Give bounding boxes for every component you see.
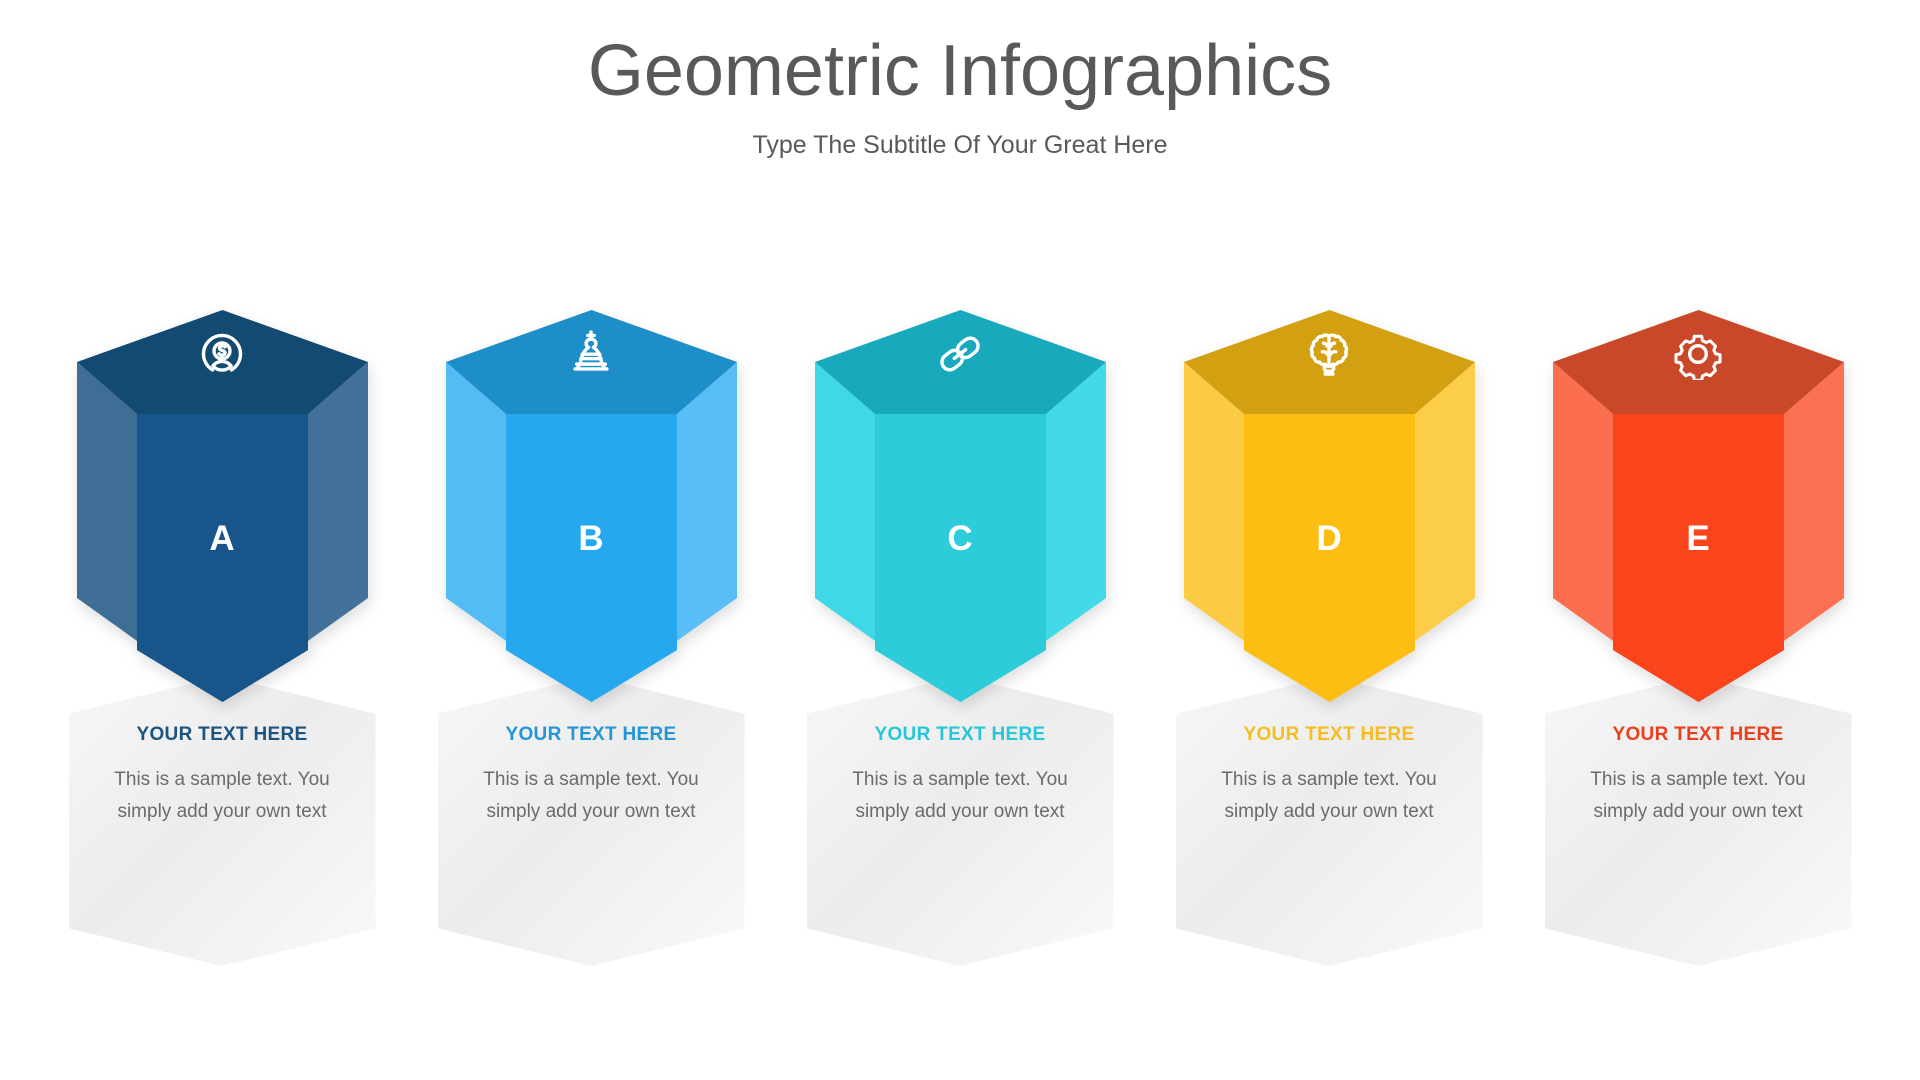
- text-panel: YOUR TEXT HERE This is a sample text. Yo…: [438, 676, 745, 966]
- page-subtitle: Type The Subtitle Of Your Great Here: [0, 113, 1920, 160]
- prism-front-face: [1613, 414, 1784, 702]
- panel-body: This is a sample text. You simply add yo…: [1545, 764, 1852, 828]
- prism-front-face: [506, 414, 677, 702]
- prism-top-face: [446, 310, 737, 414]
- infographic-column-a[interactable]: A YOUR TEXT HERE This is a sample text. …: [69, 310, 376, 970]
- infographic-column-c[interactable]: C YOUR TEXT HERE This is a sample text. …: [807, 310, 1114, 970]
- hex-prism-shape: [1545, 310, 1852, 730]
- text-panel: YOUR TEXT HERE This is a sample text. Yo…: [807, 676, 1114, 966]
- infographic-column-b[interactable]: B YOUR TEXT HERE This is a sample text. …: [438, 310, 745, 970]
- hex-prism[interactable]: [807, 310, 1114, 730]
- hex-prism-shape: [438, 310, 745, 730]
- infographic-slide: Geometric Infographics Type The Subtitle…: [0, 0, 1920, 1080]
- hex-prism[interactable]: [1176, 310, 1483, 730]
- panel-body: This is a sample text. You simply add yo…: [69, 764, 376, 828]
- panel-heading: YOUR TEXT HERE: [69, 724, 376, 746]
- infographic-column-e[interactable]: E YOUR TEXT HERE This is a sample text. …: [1545, 310, 1852, 970]
- infographic-column-d[interactable]: D YOUR TEXT HERE This is a sample text. …: [1176, 310, 1483, 970]
- panel-heading: YOUR TEXT HERE: [807, 724, 1114, 746]
- hex-prism-shape: [807, 310, 1114, 730]
- hex-prism-shape: [1176, 310, 1483, 730]
- prism-top-face: [1553, 310, 1844, 414]
- panel-heading: YOUR TEXT HERE: [1176, 724, 1483, 746]
- text-panel: YOUR TEXT HERE This is a sample text. Yo…: [1176, 676, 1483, 966]
- slide-header: Geometric Infographics Type The Subtitle…: [0, 0, 1920, 160]
- prism-front-face: [1244, 414, 1415, 702]
- panel-body: This is a sample text. You simply add yo…: [438, 764, 745, 828]
- hex-prism[interactable]: [1545, 310, 1852, 730]
- panel-body: This is a sample text. You simply add yo…: [807, 764, 1114, 828]
- prism-top-face: [815, 310, 1106, 414]
- prism-top-face: [77, 310, 368, 414]
- prism-front-face: [875, 414, 1046, 702]
- hex-prism[interactable]: [69, 310, 376, 730]
- prism-front-face: [137, 414, 308, 702]
- page-title: Geometric Infographics: [0, 0, 1920, 113]
- prism-top-face: [1184, 310, 1475, 414]
- text-panel: YOUR TEXT HERE This is a sample text. Yo…: [69, 676, 376, 966]
- hex-prism[interactable]: [438, 310, 745, 730]
- panel-heading: YOUR TEXT HERE: [438, 724, 745, 746]
- text-panel: YOUR TEXT HERE This is a sample text. Yo…: [1545, 676, 1852, 966]
- panel-heading: YOUR TEXT HERE: [1545, 724, 1852, 746]
- hex-prism-shape: [69, 310, 376, 730]
- infographic-columns: A YOUR TEXT HERE This is a sample text. …: [0, 310, 1920, 970]
- panel-body: This is a sample text. You simply add yo…: [1176, 764, 1483, 828]
